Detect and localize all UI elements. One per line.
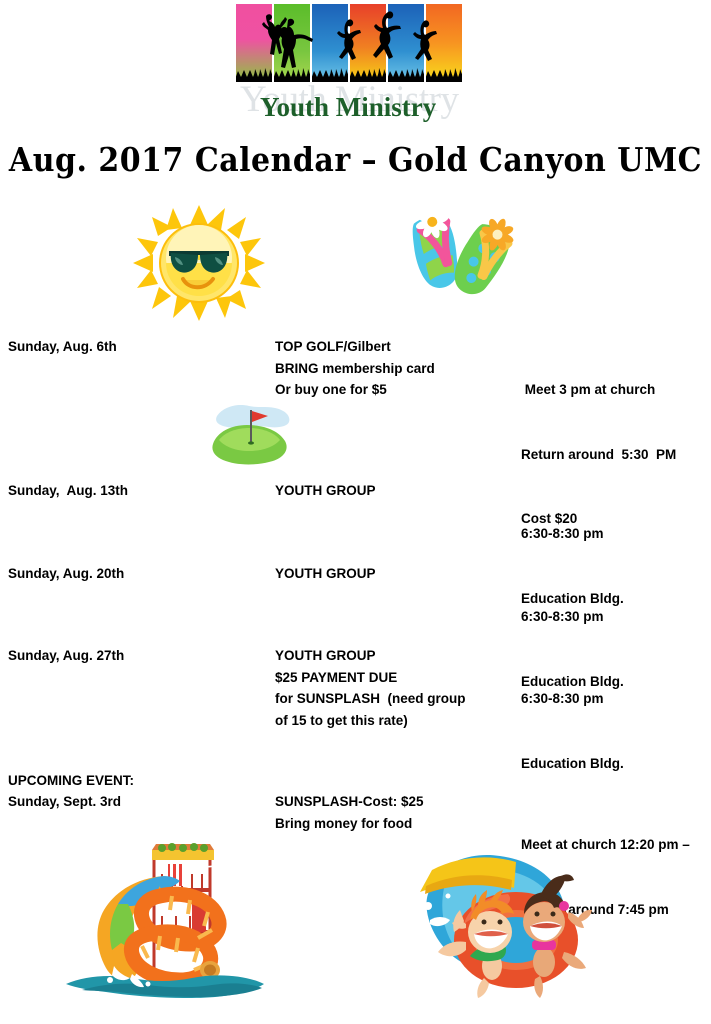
row-detail-line: Meet 3 pm at church	[521, 379, 711, 401]
row-event: YOUTH GROUP $25 PAYMENT DUE for SUNSPLAS…	[275, 645, 510, 731]
logo-wordmark-text: Youth Ministry	[260, 92, 436, 123]
logo-panel-1	[236, 4, 272, 82]
upcoming-event-heading: UPCOMING EVENT:	[8, 770, 134, 792]
row-event-line: for SUNSPLASH (need group	[275, 688, 510, 710]
upcoming-event-date: Sunday, Sept. 3rd	[8, 791, 121, 813]
sun-with-sunglasses-icon	[131, 203, 267, 323]
row-date: Sunday, Aug. 6th	[8, 336, 263, 358]
page-title: Aug. 2017 Calendar – Gold Canyon UMC	[0, 142, 711, 180]
logo-panel-4	[350, 4, 386, 82]
golf-green-flag-icon	[203, 398, 303, 468]
row-event-line: of 15 to get this rate)	[275, 710, 510, 732]
row-event: TOP GOLF/Gilbert BRING membership card O…	[275, 336, 510, 401]
logo-panel-6	[426, 4, 462, 82]
water-slide-icon	[52, 838, 280, 1006]
row-event: YOUTH GROUP	[275, 480, 510, 502]
row-detail-line: Education Bldg.	[521, 753, 711, 775]
row-detail-line: Return around 5:30 PM	[521, 444, 711, 466]
upcoming-event-description: SUNSPLASH-Cost: $25 Bring money for food	[275, 791, 515, 834]
row-event-line: YOUTH GROUP	[275, 480, 510, 502]
row-event-line: BRING membership card	[275, 358, 510, 380]
youth-ministry-logo: Youth Ministry Youth Ministry	[236, 4, 462, 134]
row-detail-line: 6:30-8:30 pm	[521, 606, 711, 628]
row-date: Sunday, Aug. 20th	[8, 563, 263, 585]
row-detail-line: 6:30-8:30 pm	[521, 523, 711, 545]
row-event-line: Or buy one for $5	[275, 379, 510, 401]
logo-color-panels	[236, 4, 462, 82]
logo-panel-5	[388, 4, 424, 82]
row-event: YOUTH GROUP	[275, 563, 510, 585]
row-event-line: TOP GOLF/Gilbert	[275, 336, 510, 358]
upcoming-event-line: SUNSPLASH-Cost: $25	[275, 791, 515, 813]
flip-flops-icon	[398, 206, 522, 310]
row-detail-line: 6:30-8:30 pm	[521, 688, 711, 710]
upcoming-event-line: Bring money for food	[275, 813, 515, 835]
row-event-line: YOUTH GROUP	[275, 563, 510, 585]
row-event-line: $25 PAYMENT DUE	[275, 667, 510, 689]
kids-on-inner-tube-icon	[404, 836, 620, 1002]
logo-panel-2	[274, 4, 310, 82]
logo-panel-3	[312, 4, 348, 82]
logo-wordmark: Youth Ministry Youth Ministry	[236, 78, 462, 134]
row-date: Sunday, Aug. 27th	[8, 645, 263, 667]
row-date: Sunday, Aug. 13th	[8, 480, 263, 502]
row-event-line: YOUTH GROUP	[275, 645, 510, 667]
